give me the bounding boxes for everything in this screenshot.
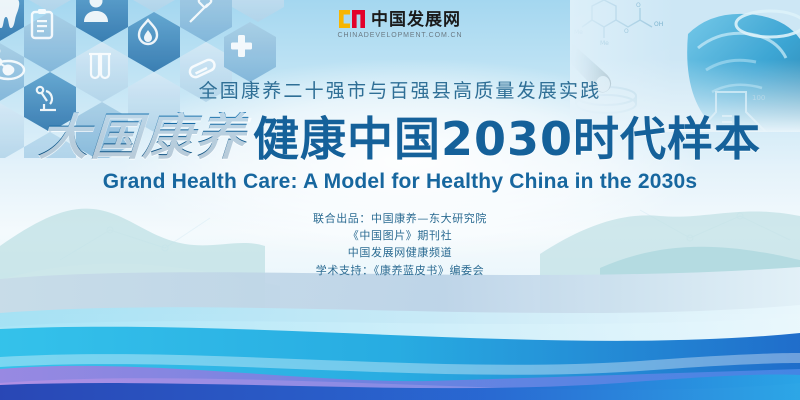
title-main: 健康中国2030时代样本 [253, 116, 761, 162]
main-title: 大国康养 健康中国2030时代样本 [0, 112, 800, 162]
brand-name: 中国发展网 [371, 11, 461, 28]
credits-line-1: 联合出品：中国康养—东大研究院 [0, 210, 800, 227]
promo-banner: 100 O O OH Me Me [0, 0, 800, 400]
brand-url: CHINADEVELOPMENT.COM.CN [338, 32, 463, 39]
english-subtitle: Grand Health Care: A Model for Healthy C… [0, 170, 800, 194]
credits-line-2: 《中国图片》期刊社 [0, 227, 800, 244]
kicker-text: 全国康养二十强市与百强县高质量发展实践 [0, 76, 800, 103]
academic-support-line: 学术支持：《康养蓝皮书》编委会 [0, 262, 800, 278]
brand-block: 中国发展网 CHINADEVELOPMENT.COM.CN [0, 10, 800, 39]
credits-block: 联合出品：中国康养—东大研究院 《中国图片》期刊社 中国发展网健康频道 [0, 210, 800, 261]
credits-line-3: 中国发展网健康频道 [0, 244, 800, 261]
title-calligraphy: 大国康养 [37, 112, 248, 162]
chinadevelopment-logo-icon [339, 10, 365, 28]
